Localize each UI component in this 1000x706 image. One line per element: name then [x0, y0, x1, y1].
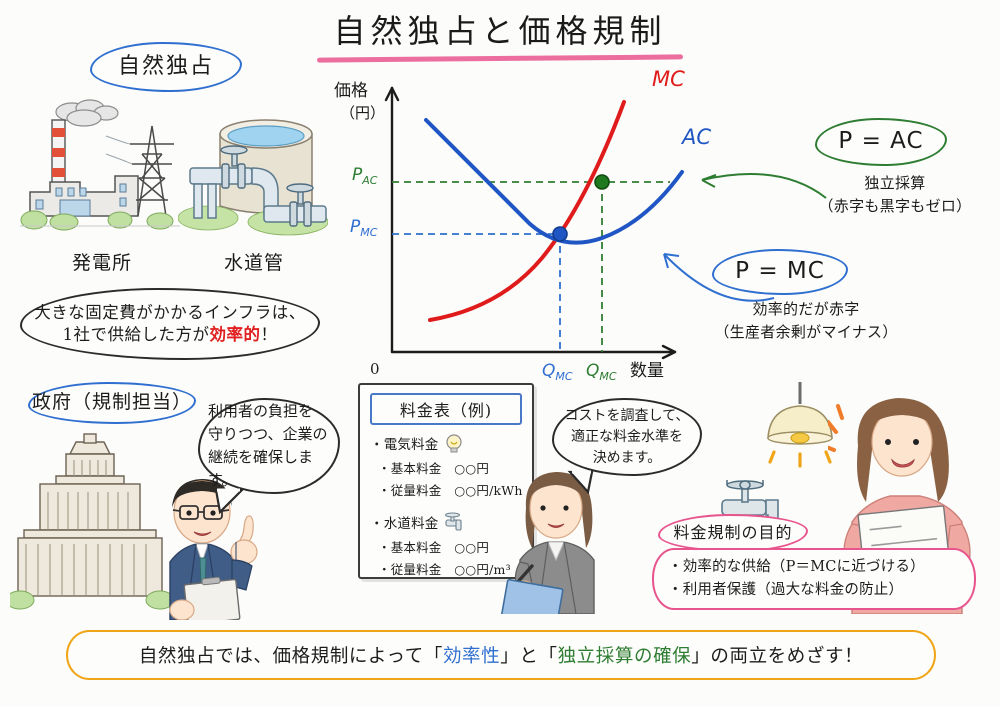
p-equals-mc-label: P = MC [735, 256, 825, 287]
p-equals-ac-cloud: P = AC [815, 118, 947, 166]
p-equals-mc-cloud: P = MC [712, 249, 848, 295]
mc-curve-label: MC [652, 67, 685, 91]
rate-section-electric-heading: ・電気料金 [360, 431, 532, 456]
government-cloud-label: 政府（規制担当） [28, 382, 196, 424]
infra-note-highlight: 効率的 [209, 325, 260, 344]
p-ac-axis-label: PAC [352, 165, 378, 187]
p-mc-axis-label: PMC [350, 217, 378, 239]
pac-note-line1: 独立採算 [800, 172, 990, 195]
faucet-icon [443, 512, 469, 534]
lightbulb-icon [443, 433, 465, 455]
gov-speech-line1: 利用者の負担を [208, 400, 330, 423]
water-pipe-illustration [178, 96, 328, 248]
origin-label: 0 [370, 360, 380, 378]
infra-note-line2b: ！ [260, 325, 277, 344]
staff-speech-line1: コストを調査して、 [565, 406, 690, 427]
mc-guide-lines [392, 234, 560, 352]
purpose-cloud-label: 料金規制の目的 [658, 514, 808, 552]
p-equals-mc-point [553, 227, 567, 241]
gov-speech-line2: 守りつつ、企業の [208, 423, 330, 446]
natural-monopoly-cloud-label: 自然独占 [90, 42, 242, 92]
footer-summary-banner: 自然独占では、価格規制によって「効率性」と「独立採算の確保」の両立をめざす！ [66, 630, 936, 680]
p-equals-ac-note: 独立採算 （赤字も黒字もゼロ） [800, 172, 990, 217]
footer-text: 自然独占では、価格規制によって「効率性」と「独立採算の確保」の両立をめざす！ [139, 642, 863, 668]
gov-speech-tail [212, 488, 246, 514]
water-heading-text: ・水道料金 [370, 516, 439, 532]
ac-curve-label: AC [680, 125, 711, 149]
water-pipe-label: 水道管 [196, 248, 312, 275]
footer-part2: 」と「 [500, 646, 557, 667]
purpose-item-2: ・利用者保護（過大な料金の防止） [668, 579, 970, 602]
purpose-label-text: 料金規制の目的 [673, 522, 792, 544]
staff-speech-line2: 適正な料金水準を [565, 427, 690, 448]
infographic-canvas: 自然独占と価格規制 自然独占 [0, 0, 1000, 706]
footer-highlight-selfsupport: 独立採算の確保 [558, 646, 692, 667]
power-plant-illustration [20, 96, 180, 248]
infra-note-line2a: 1社で供給した方が [62, 325, 209, 344]
p-equals-ac-label: P = AC [838, 126, 923, 157]
y-axis-label: 価格 [334, 81, 368, 101]
x-axis-label: 数量 [630, 361, 664, 381]
staff-speech-bubble: コストを調査して、 適正な料金水準を 決めます。 [552, 398, 702, 476]
gov-speech-line3: 継続を確保します。 [208, 446, 330, 493]
q-mc-axis-label: QMC [542, 361, 573, 382]
p-equals-mc-note: 効率的だが赤字 （生産者余剰がマイナス） [700, 298, 912, 343]
natural-monopoly-label-text: 自然独占 [118, 52, 214, 82]
q-ac-axis-label: QMC [586, 361, 617, 382]
pmc-note-line2: （生産者余剰がマイナス） [700, 321, 912, 344]
staff-speech-tail [566, 470, 596, 494]
ac-guide-lines [392, 182, 670, 352]
y-axis-unit: （円） [340, 104, 385, 122]
purpose-item-1: ・効率的な供給（P＝MCに近づける） [668, 556, 970, 579]
rate-table-title: 料金表（例) [370, 393, 522, 425]
infrastructure-note-bubble: 大きな固定費がかかるインフラは、 1社で供給した方が効率的！ [20, 288, 320, 360]
footer-part1: 自然独占では、価格規制によって「 [139, 646, 443, 667]
infra-note-line1: 大きな固定費がかかるインフラは、 [34, 303, 306, 322]
footer-part3: 」の両立をめざす！ [691, 646, 863, 667]
footer-highlight-efficiency: 効率性 [443, 646, 500, 667]
mc-curve [430, 102, 624, 320]
purpose-box: ・効率的な供給（P＝MCに近づける） ・利用者保護（過大な料金の防止） [652, 548, 976, 610]
government-label-text: 政府（規制担当） [32, 390, 192, 416]
power-plant-label: 発電所 [44, 248, 160, 275]
pmc-note-line1: 効率的だが赤字 [700, 298, 912, 321]
p-equals-ac-point [595, 175, 609, 189]
pac-note-line2: （赤字も黒字もゼロ） [800, 195, 990, 218]
electric-heading-text: ・電気料金 [370, 437, 439, 453]
staff-speech-line3: 決めます。 [565, 448, 690, 469]
government-speech-bubble: 利用者の負担を 守りつつ、企業の 継続を確保します。 [198, 398, 340, 494]
